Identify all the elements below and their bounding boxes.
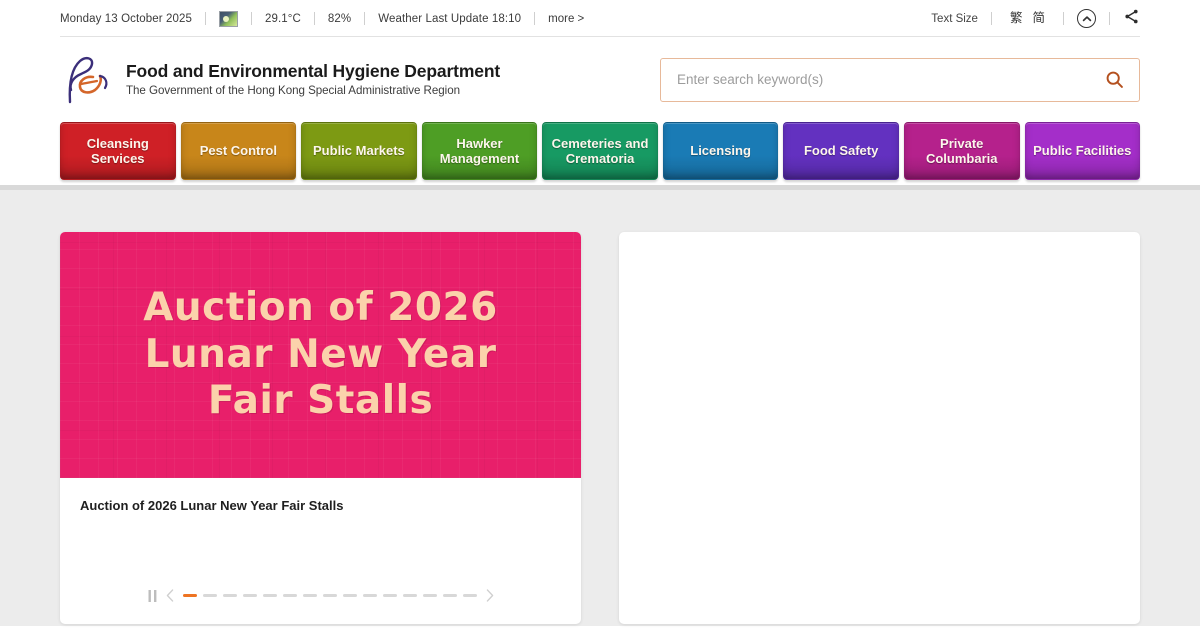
text-size-label: Text Size	[931, 13, 978, 25]
banner-line-1: Auction of 2026	[143, 286, 498, 330]
divider	[205, 12, 206, 25]
humidity-value: 82%	[328, 13, 351, 25]
top-utility-bar: Monday 13 October 2025 29.1°C 82% Weathe…	[0, 0, 1200, 37]
circle-up-chevron-icon[interactable]	[1077, 9, 1096, 28]
nav-item-licensing[interactable]: Licensing	[663, 122, 779, 180]
brand-block[interactable]: Food and Environmental Hygiene Departmen…	[60, 55, 500, 105]
carousel-dot[interactable]	[243, 594, 257, 597]
carousel-controls	[60, 589, 581, 624]
carousel-dot[interactable]	[343, 594, 357, 597]
card-row: Auction of 2026 Lunar New Year Fair Stal…	[60, 190, 1140, 624]
lang-traditional-chinese[interactable]: 繁	[1010, 12, 1023, 25]
carousel-dot[interactable]	[403, 594, 417, 597]
nav-item-pest-control[interactable]: Pest Control	[181, 122, 297, 180]
highlight-carousel-card: Auction of 2026 Lunar New Year Fair Stal…	[60, 232, 581, 624]
divider	[991, 12, 992, 25]
pause-icon[interactable]	[148, 590, 157, 602]
topbar-left-group: Monday 13 October 2025 29.1°C 82% Weathe…	[60, 11, 584, 27]
weather-more-link[interactable]: more >	[548, 13, 584, 25]
divider	[251, 12, 252, 25]
carousel-dot[interactable]	[303, 594, 317, 597]
nav-item-private-columbaria[interactable]: Private Columbaria	[904, 122, 1020, 180]
divider	[364, 12, 365, 25]
banner-image[interactable]: Auction of 2026 Lunar New Year Fair Stal…	[60, 232, 581, 478]
side-content-card[interactable]	[619, 232, 1140, 624]
page-body: Auction of 2026 Lunar New Year Fair Stal…	[0, 185, 1200, 626]
divider	[314, 12, 315, 25]
topbar-right-group: Text Size 繁 简	[931, 8, 1140, 30]
share-icon[interactable]	[1123, 8, 1140, 30]
fe-monogram-logo	[60, 55, 112, 105]
divider	[1109, 12, 1110, 25]
government-subtitle: The Government of the Hong Kong Special …	[126, 84, 500, 98]
temperature-value: 29.1°C	[265, 13, 301, 25]
carousel-dot[interactable]	[203, 594, 217, 597]
page-title: Food and Environmental Hygiene Departmen…	[126, 61, 500, 81]
site-header: Food and Environmental Hygiene Departmen…	[0, 37, 1200, 122]
banner-line-2: Lunar New Year	[145, 333, 497, 377]
search-input[interactable]	[677, 72, 1104, 87]
main-navigation: Cleansing Services Pest Control Public M…	[0, 122, 1200, 185]
nav-item-hawker-management[interactable]: Hawker Management	[422, 122, 538, 180]
current-date: Monday 13 October 2025	[60, 13, 192, 25]
carousel-dot[interactable]	[183, 594, 197, 597]
carousel-dot[interactable]	[443, 594, 457, 597]
carousel-dot[interactable]	[383, 594, 397, 597]
nav-button-row: Cleansing Services Pest Control Public M…	[60, 122, 1140, 180]
divider	[534, 12, 535, 25]
divider	[1063, 12, 1064, 25]
nav-item-cleansing-services[interactable]: Cleansing Services	[60, 122, 176, 180]
nav-item-public-facilities[interactable]: Public Facilities	[1025, 122, 1141, 180]
brand-text: Food and Environmental Hygiene Departmen…	[126, 61, 500, 97]
carousel-dot[interactable]	[263, 594, 277, 597]
carousel-dot[interactable]	[423, 594, 437, 597]
banner-line-3: Fair Stalls	[208, 379, 433, 423]
chevron-left-icon[interactable]	[166, 589, 174, 602]
carousel-dots	[183, 594, 477, 597]
carousel-dot[interactable]	[463, 594, 477, 597]
carousel-dot[interactable]	[323, 594, 337, 597]
carousel-dot[interactable]	[283, 594, 297, 597]
banner-caption[interactable]: Auction of 2026 Lunar New Year Fair Stal…	[60, 478, 581, 515]
chevron-right-icon[interactable]	[486, 589, 494, 602]
nav-item-cemeteries-and-crematoria[interactable]: Cemeteries and Crematoria	[542, 122, 658, 180]
partly-cloudy-icon	[219, 11, 238, 27]
carousel-dot[interactable]	[223, 594, 237, 597]
nav-item-food-safety[interactable]: Food Safety	[783, 122, 899, 180]
nav-item-public-markets[interactable]: Public Markets	[301, 122, 417, 180]
search-box[interactable]	[660, 58, 1140, 102]
lang-simplified-chinese[interactable]: 简	[1032, 12, 1045, 25]
carousel-dot[interactable]	[363, 594, 377, 597]
search-button[interactable]	[1104, 69, 1125, 90]
weather-last-update: Weather Last Update 18:10	[378, 13, 521, 25]
